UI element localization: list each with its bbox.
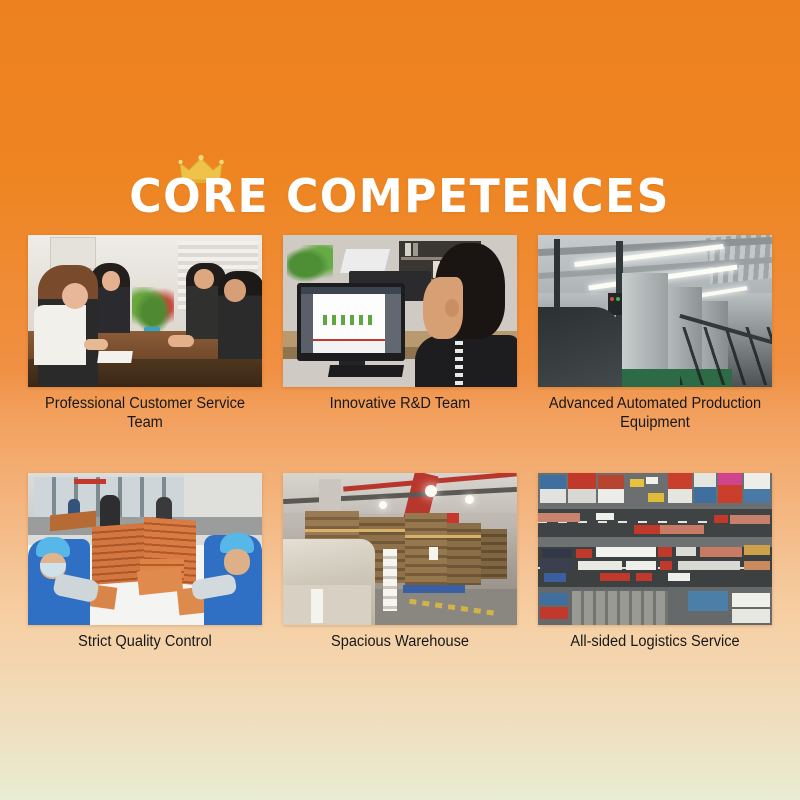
grid-row-1: Professional Customer Service Team Inn: [28, 235, 772, 432]
card-innovative-rd-team[interactable]: Innovative R&D Team: [283, 235, 517, 432]
photo-all-sided-logistics-service: [538, 473, 772, 625]
caption-innovative-rd-team: Innovative R&D Team: [290, 394, 510, 413]
card-all-sided-logistics-service[interactable]: All-sided Logistics Service: [538, 473, 772, 651]
core-competences-banner: CORE COMPETENCES Professional Customer S…: [0, 0, 800, 800]
card-advanced-automated-production-equipment[interactable]: Advanced Automated Production Equipment: [538, 235, 772, 432]
caption-all-sided-logistics-service: All-sided Logistics Service: [545, 632, 765, 651]
caption-spacious-warehouse: Spacious Warehouse: [290, 632, 510, 651]
card-spacious-warehouse[interactable]: Spacious Warehouse: [283, 473, 517, 651]
page-title: CORE COMPETENCES: [130, 168, 671, 224]
card-strict-quality-control[interactable]: Strict Quality Control: [28, 473, 262, 651]
competence-grid: Professional Customer Service Team Inn: [28, 235, 772, 651]
photo-professional-customer-service-team: [28, 235, 262, 387]
photo-strict-quality-control: [28, 473, 262, 625]
grid-row-2: Strict Quality Control Spacious Warehous…: [28, 473, 772, 651]
photo-innovative-rd-team: [283, 235, 517, 387]
caption-strict-quality-control: Strict Quality Control: [35, 632, 255, 651]
photo-spacious-warehouse: [283, 473, 517, 625]
caption-professional-customer-service-team: Professional Customer Service Team: [35, 394, 255, 432]
caption-advanced-automated-production-equipment: Advanced Automated Production Equipment: [545, 394, 765, 432]
card-professional-customer-service-team[interactable]: Professional Customer Service Team: [28, 235, 262, 432]
photo-advanced-automated-production-equipment: [538, 235, 772, 387]
